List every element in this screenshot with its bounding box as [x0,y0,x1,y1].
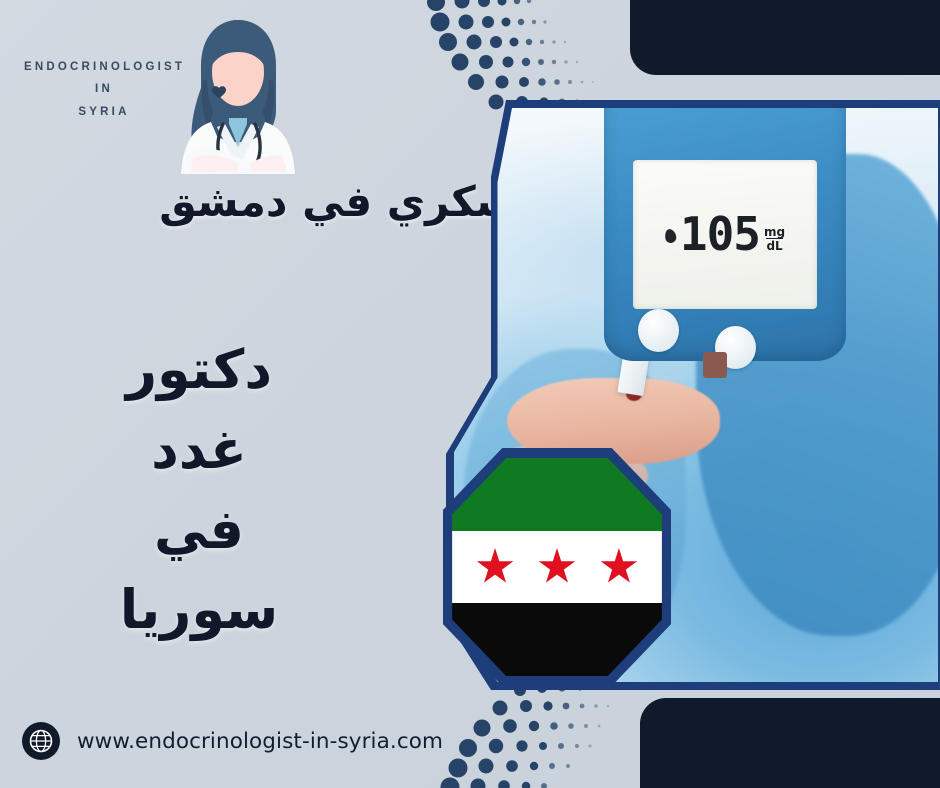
globe-icon [22,722,60,760]
decor-corner-bottom-right [640,698,940,788]
subtitle-line-3: في [40,490,358,570]
brand-logo-line3: SYRIA [24,101,184,123]
glucose-meter-screen: 105 mg dL [633,160,817,309]
stacked-subtitle: دكتور غدد في سوريا [40,330,358,650]
flag-star-2 [538,548,576,586]
syria-flag [452,458,662,677]
flag-stripe-black [452,603,662,676]
meter-strip-port [703,352,727,378]
subtitle-line-1: دكتور [40,330,358,410]
decor-corner-top-right [630,0,940,75]
brand-logo-line1: ENDOCRINOLOGIST [24,61,185,73]
unit-denominator: dL [766,238,782,253]
glucose-reading-unit: mg dL [764,226,785,253]
syria-flag-badge [443,448,671,686]
blood-drop-icon [664,228,678,244]
female-doctor-hijab-icon [163,14,313,179]
brand-logo[interactable]: ENDOCRINOLOGIST IN SYRIA [18,14,308,179]
flag-star-3 [600,548,638,586]
subtitle-line-2: غدد [40,410,358,490]
glucose-reading-value: 105 [680,211,760,257]
meter-button-left [638,309,679,352]
flag-stripe-green [452,458,662,531]
flag-star-1 [476,548,514,586]
glucose-meter: 105 mg dL [604,108,846,361]
website-bar[interactable]: www.endocrinologist-in-syria.com [22,722,443,760]
decor-dot-pattern-bottom [432,682,632,788]
subtitle-line-4: سوريا [40,570,358,650]
unit-numerator: mg [764,226,785,239]
brand-logo-line2: IN [24,78,184,100]
flag-stripe-white [452,531,662,604]
website-url[interactable]: www.endocrinologist-in-syria.com [77,729,443,754]
poster-canvas: ENDOCRINOLOGIST IN SYRIA [0,0,940,788]
decor-dot-pattern-top [424,0,634,116]
brand-logo-text: ENDOCRINOLOGIST IN SYRIA [24,56,184,123]
